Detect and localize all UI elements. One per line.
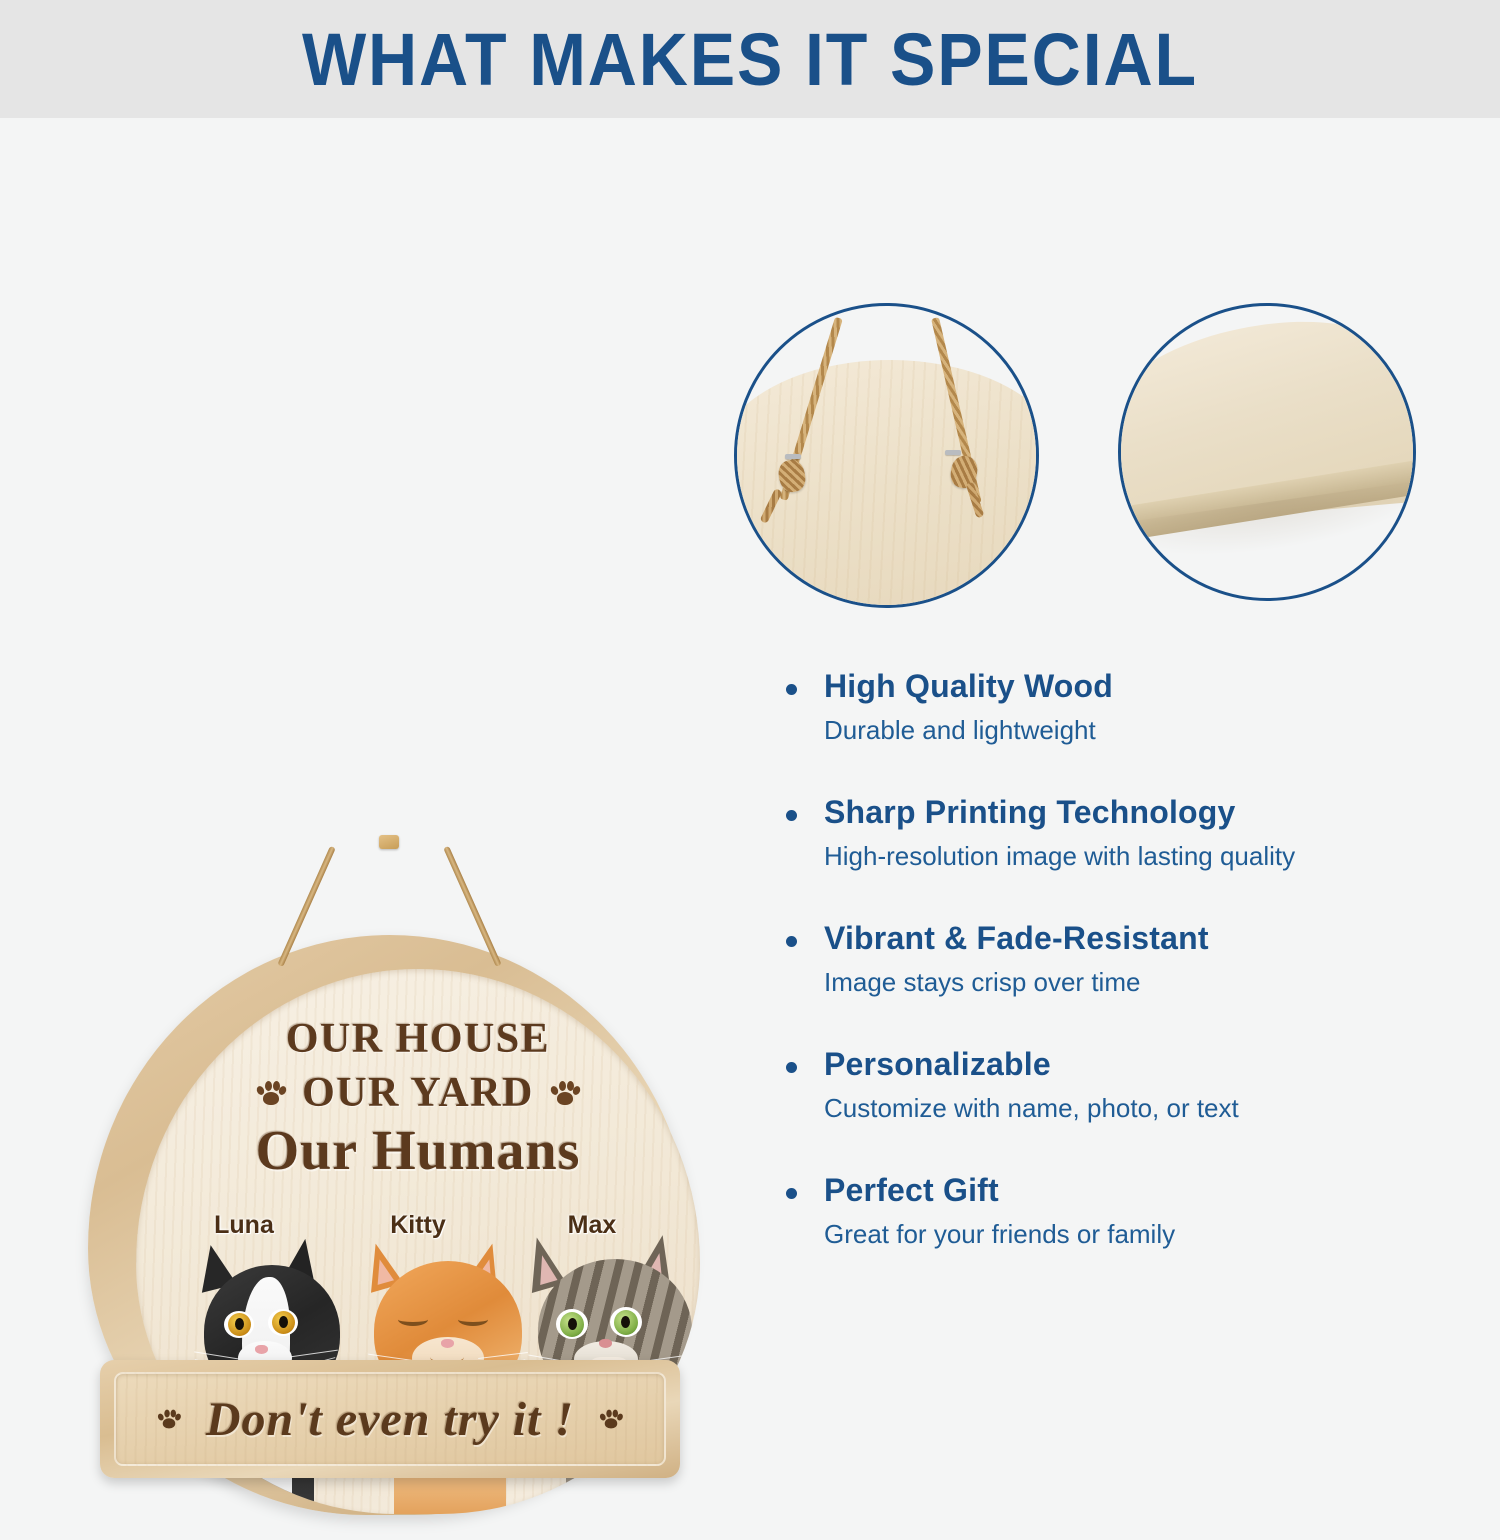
page-title: WHAT MAKES IT SPECIAL [302, 17, 1198, 102]
pet-name-max: Max [544, 1211, 640, 1240]
product-image: OUR HOUSE OUR YARD Our Humans Luna [0, 400, 760, 1200]
feature-title: Sharp Printing Technology [824, 794, 1458, 831]
feature-title: Vibrant & Fade-Resistant [824, 920, 1458, 957]
feature-title: Personalizable [824, 1046, 1458, 1083]
paw-print-icon [599, 1408, 622, 1430]
staple-icon [785, 454, 801, 459]
sign-line-2-row: OUR YARD [136, 1069, 700, 1117]
detail-circle-rope-hanger [734, 303, 1039, 608]
feature-item-high-quality-wood: High Quality Wood Durable and lightweigh… [778, 668, 1458, 746]
feature-description: Image stays crisp over time [824, 967, 1458, 998]
sign-line-3: Our Humans [136, 1119, 700, 1183]
feature-item-vibrant-fade-resistant: Vibrant & Fade-Resistant Image stays cri… [778, 920, 1458, 998]
pet-name-labels: Luna Kitty Max [136, 1211, 700, 1240]
wood-board-surface [734, 360, 1039, 608]
sign-line-2: OUR YARD [302, 1069, 534, 1117]
feature-list: High Quality Wood Durable and lightweigh… [778, 668, 1458, 1250]
feature-title: High Quality Wood [824, 668, 1458, 705]
feature-description: Great for your friends or family [824, 1219, 1458, 1250]
hanging-peg-icon [379, 835, 399, 849]
paw-print-icon [550, 1079, 580, 1107]
detail-circle-wood-edge [1118, 303, 1416, 601]
bullet-icon [786, 936, 797, 947]
bullet-icon [786, 684, 797, 695]
page-header: WHAT MAKES IT SPECIAL [0, 0, 1500, 118]
sign-line-1: OUR HOUSE [136, 1015, 700, 1063]
staple-icon [945, 450, 961, 455]
feature-description: Durable and lightweight [824, 715, 1458, 746]
banner-text: Don't even try it ! [206, 1392, 574, 1447]
banner-inner-frame: Don't even try it ! [114, 1372, 666, 1466]
feature-item-personalizable: Personalizable Customize with name, phot… [778, 1046, 1458, 1124]
sign-bottom-banner: Don't even try it ! [100, 1360, 680, 1478]
feature-item-sharp-printing-technology: Sharp Printing Technology High-resolutio… [778, 794, 1458, 872]
pet-name-kitty: Kitty [370, 1211, 466, 1240]
feature-title: Perfect Gift [824, 1172, 1458, 1209]
feature-item-perfect-gift: Perfect Gift Great for your friends or f… [778, 1172, 1458, 1250]
pet-name-luna: Luna [196, 1211, 292, 1240]
feature-description: High-resolution image with lasting quali… [824, 841, 1458, 872]
sign-engraved-text: OUR HOUSE OUR YARD Our Humans [136, 1015, 700, 1183]
paw-print-icon [157, 1408, 180, 1430]
paw-print-icon [256, 1079, 286, 1107]
round-sign-plaque: OUR HOUSE OUR YARD Our Humans Luna [60, 920, 720, 1540]
feature-description: Customize with name, photo, or text [824, 1093, 1458, 1124]
bullet-icon [786, 1188, 797, 1199]
bullet-icon [786, 810, 797, 821]
bullet-icon [786, 1062, 797, 1073]
